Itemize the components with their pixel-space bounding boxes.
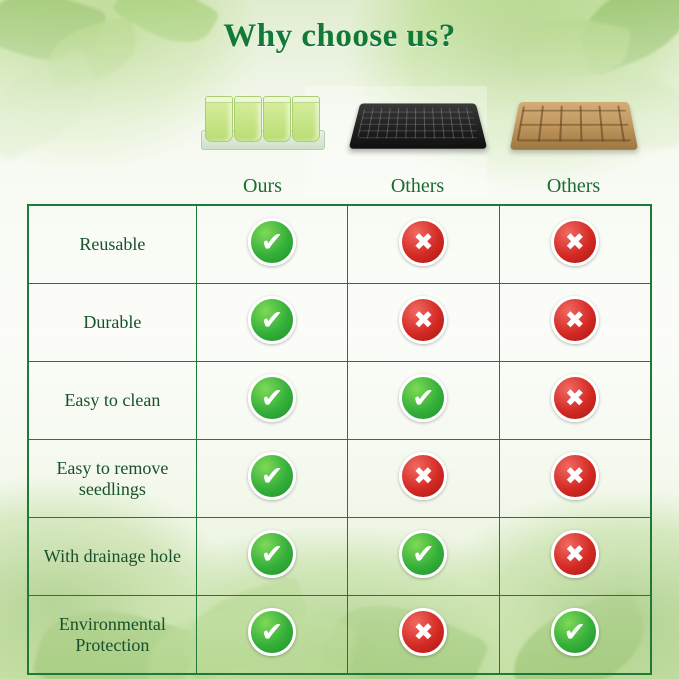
header-cell-column-2: Others [340, 84, 495, 196]
comparison-cell: ✖ [348, 440, 499, 518]
check-mark-icon: ✔ [248, 530, 296, 578]
badge-glyph: ✖ [399, 218, 447, 266]
badge-glyph: ✔ [551, 608, 599, 656]
badge-glyph: ✖ [399, 452, 447, 500]
table-row: Easy to remove seedlings✔✖✖ [28, 440, 651, 518]
badge-glyph: ✖ [551, 530, 599, 578]
feature-label: Easy to clean [28, 362, 196, 440]
badge-glyph: ✔ [248, 218, 296, 266]
badge-glyph: ✔ [399, 374, 447, 422]
table-row: Easy to clean✔✔✖ [28, 362, 651, 440]
badge-glyph: ✖ [399, 296, 447, 344]
cross-mark-icon: ✖ [551, 530, 599, 578]
feature-label: Easy to remove seedlings [28, 440, 196, 518]
header-cell-ours [27, 84, 185, 196]
comparison-cell: ✖ [499, 284, 651, 362]
comparison-cell: ✖ [348, 596, 499, 675]
table-row: Durable✔✖✖ [28, 284, 651, 362]
badge-glyph: ✖ [551, 374, 599, 422]
table-row: With drainage hole✔✔✖ [28, 518, 651, 596]
comparison-table: Reusable✔✖✖Durable✔✖✖Easy to clean✔✔✖Eas… [27, 204, 652, 675]
comparison-cell: ✖ [499, 362, 651, 440]
badge-glyph: ✔ [248, 374, 296, 422]
feature-label: Durable [28, 284, 196, 362]
badge-glyph: ✖ [551, 296, 599, 344]
plastic-seedling-cell-tray-icon [201, 92, 325, 156]
comparison-cell: ✔ [196, 284, 347, 362]
check-mark-icon: ✔ [248, 452, 296, 500]
page-title: Why choose us? [0, 18, 679, 55]
comparison-cell: ✖ [348, 205, 499, 284]
column-label-1: Ours [185, 175, 340, 198]
check-mark-icon: ✔ [248, 374, 296, 422]
comparison-cell: ✖ [348, 284, 499, 362]
comparison-cell: ✔ [348, 518, 499, 596]
check-mark-icon: ✔ [399, 374, 447, 422]
check-mark-icon: ✔ [248, 296, 296, 344]
check-mark-icon: ✔ [399, 530, 447, 578]
feature-label: Reusable [28, 205, 196, 284]
comparison-cell: ✖ [499, 518, 651, 596]
comparison-cell: ✔ [196, 518, 347, 596]
badge-glyph: ✔ [248, 452, 296, 500]
comparison-cell: ✔ [196, 205, 347, 284]
comparison-cell: ✔ [348, 362, 499, 440]
cross-mark-icon: ✖ [551, 452, 599, 500]
column-label-3: Others [495, 175, 652, 198]
badge-glyph: ✖ [551, 452, 599, 500]
check-mark-icon: ✔ [248, 218, 296, 266]
header-cell-column-1: Ours [185, 84, 340, 196]
table-row: Environmental Protection✔✖✔ [28, 596, 651, 675]
badge-glyph: ✔ [248, 530, 296, 578]
cross-mark-icon: ✖ [551, 374, 599, 422]
badge-glyph: ✖ [399, 608, 447, 656]
product-image-others-2 [495, 86, 652, 162]
comparison-cell: ✖ [499, 205, 651, 284]
comparison-table-body: Reusable✔✖✖Durable✔✖✖Easy to clean✔✔✖Eas… [28, 205, 651, 674]
badge-glyph: ✔ [248, 608, 296, 656]
peat-fiber-tray-icon [515, 98, 633, 150]
cross-mark-icon: ✖ [399, 452, 447, 500]
cross-mark-icon: ✖ [399, 608, 447, 656]
cross-mark-icon: ✖ [399, 218, 447, 266]
badge-glyph: ✔ [248, 296, 296, 344]
table-row: Reusable✔✖✖ [28, 205, 651, 284]
product-image-ours [185, 86, 340, 162]
cross-mark-icon: ✖ [399, 296, 447, 344]
black-plug-tray-icon [355, 99, 481, 149]
check-mark-icon: ✔ [248, 608, 296, 656]
badge-glyph: ✖ [551, 218, 599, 266]
comparison-cell: ✔ [196, 596, 347, 675]
comparison-cell: ✖ [499, 440, 651, 518]
comparison-header: Ours Others Others [27, 84, 652, 196]
cross-mark-icon: ✖ [551, 296, 599, 344]
cross-mark-icon: ✖ [551, 218, 599, 266]
header-cell-column-3: Others [495, 84, 652, 196]
feature-label: Environmental Protection [28, 596, 196, 675]
comparison-cell: ✔ [196, 362, 347, 440]
comparison-cell: ✔ [499, 596, 651, 675]
feature-label: With drainage hole [28, 518, 196, 596]
badge-glyph: ✔ [399, 530, 447, 578]
comparison-cell: ✔ [196, 440, 347, 518]
column-label-2: Others [340, 175, 495, 198]
check-mark-icon: ✔ [551, 608, 599, 656]
product-image-others-1 [340, 86, 495, 162]
